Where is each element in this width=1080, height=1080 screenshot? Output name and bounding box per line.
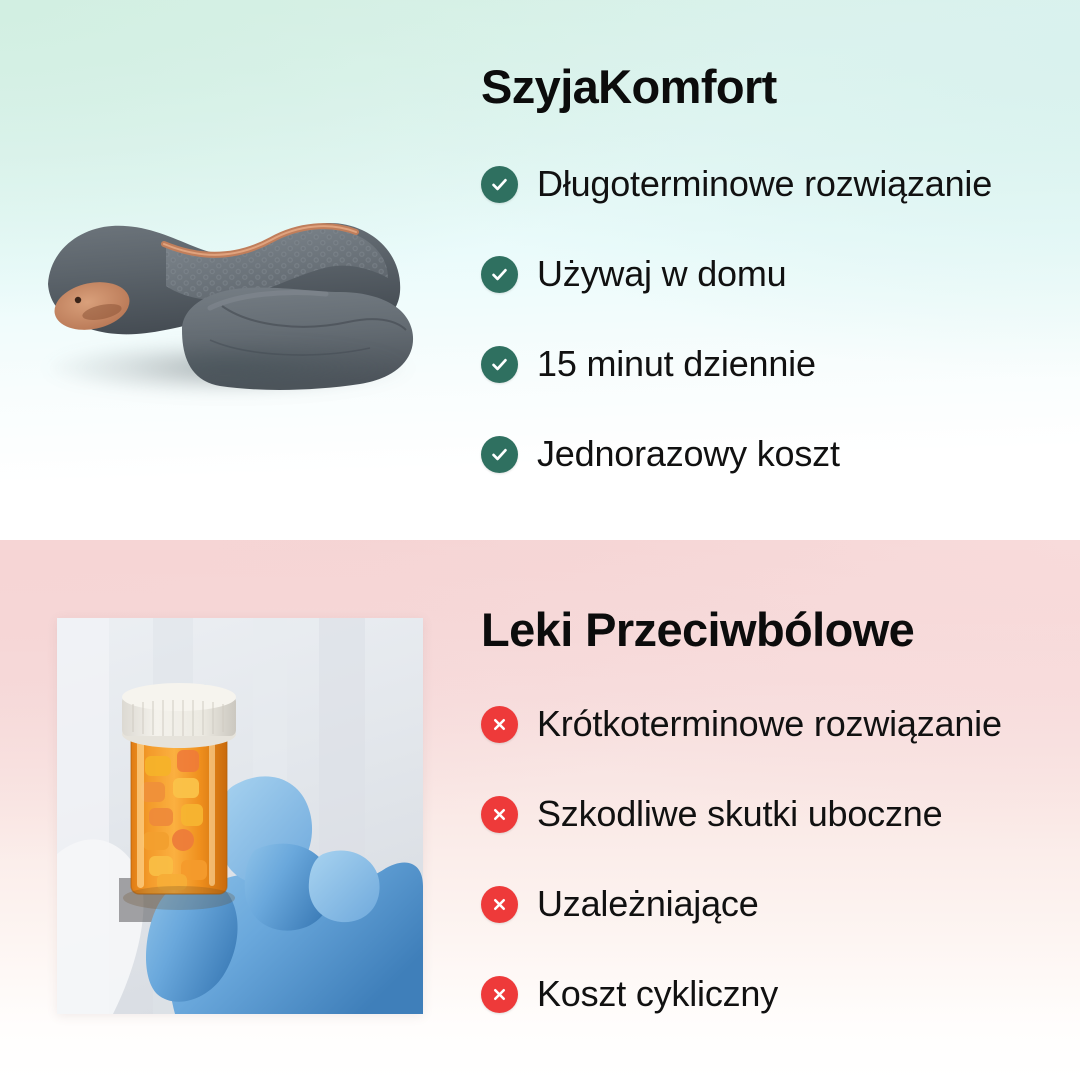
cross-circle-icon [481,976,518,1013]
check-circle-icon [481,436,518,473]
product-panel: SzyjaKomfort Długoterminowe rozwiązanie … [0,0,1080,540]
list-item-label: 15 minut dziennie [537,343,816,385]
benefit-list: Długoterminowe rozwiązanie Używaj w domu… [481,139,1041,499]
list-item-label: Uzależniające [537,883,759,925]
product-text-column: SzyjaKomfort Długoterminowe rozwiązanie … [481,62,1041,499]
list-item-label: Używaj w domu [537,253,786,295]
pillow-shadow [42,340,414,396]
cross-circle-icon [481,886,518,923]
list-item-label: Długoterminowe rozwiązanie [537,163,992,205]
cross-circle-icon [481,796,518,833]
list-item-label: Szkodliwe skutki uboczne [537,793,942,835]
list-item: Szkodliwe skutki uboczne [481,769,1041,859]
check-circle-icon [481,256,518,293]
list-item-label: Jednorazowy koszt [537,433,840,475]
pill-bottle-photo [57,618,423,1014]
comparison-infographic: SzyjaKomfort Długoterminowe rozwiązanie … [0,0,1080,1080]
check-circle-icon [481,346,518,383]
neck-pillow-product-photo [14,188,434,403]
list-item: Koszt cykliczny [481,949,1041,1039]
list-item: Uzależniające [481,859,1041,949]
list-item-label: Koszt cykliczny [537,973,778,1015]
section-title: Leki Przeciwbólowe [481,605,1041,654]
painkillers-text-column: Leki Przeciwbólowe Krótkoterminowe rozwi… [481,605,1041,1039]
list-item: 15 minut dziennie [481,319,1041,409]
check-circle-icon [481,166,518,203]
drawback-list: Krótkoterminowe rozwiązanie Szkodliwe sk… [481,679,1041,1039]
list-item: Długoterminowe rozwiązanie [481,139,1041,229]
page-title: SzyjaKomfort [481,62,1041,111]
list-item-label: Krótkoterminowe rozwiązanie [537,703,1002,745]
list-item: Jednorazowy koszt [481,409,1041,499]
list-item: Krótkoterminowe rozwiązanie [481,679,1041,769]
list-item: Używaj w domu [481,229,1041,319]
cross-circle-icon [481,706,518,743]
pill-bottle-illustration [57,618,423,1014]
